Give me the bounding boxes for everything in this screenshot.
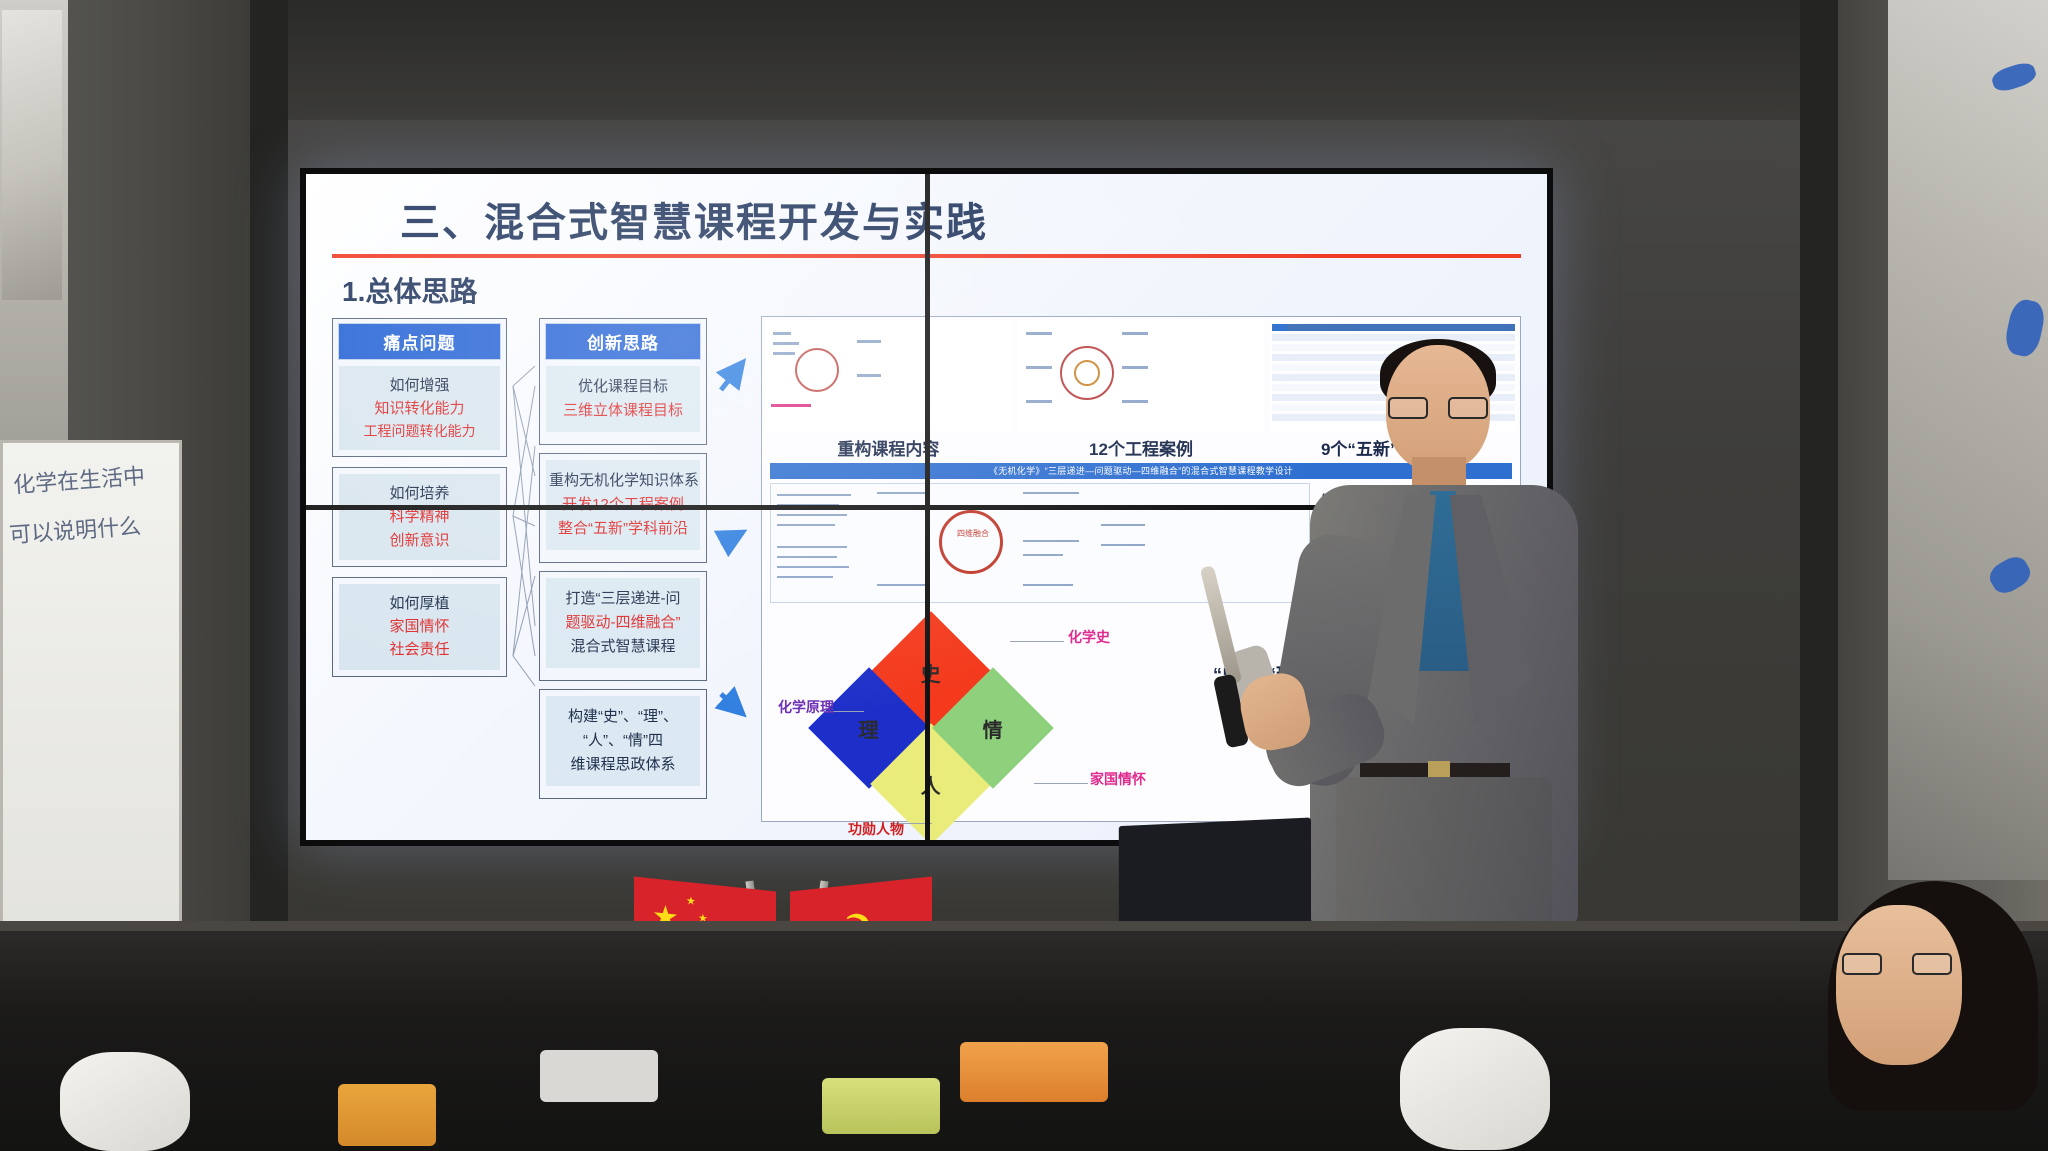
pain-3-line-2: 社会责任 — [343, 638, 496, 661]
pain-cell-2: 如何培养 科学精神 创新意识 — [339, 474, 500, 560]
arrow-column — [721, 316, 747, 822]
attendee-face — [1836, 905, 1962, 1065]
pain-1-line-2: 工程问题转化能力 — [343, 421, 496, 443]
blue-arrows — [721, 322, 747, 792]
innovation-column: 创新思路 优化课程目标 三维立体课程目标 重构无机化学知识体系 开发12个工程案… — [539, 316, 707, 822]
connector-lines — [511, 326, 537, 796]
innovation-panel-1: 创新思路 优化课程目标 三维立体课程目标 — [539, 318, 707, 445]
innovation-cell-1: 优化课程目标 三维立体课程目标 — [546, 366, 700, 432]
pain-2-line-2: 创新意识 — [343, 529, 496, 552]
caption-rebuild-content: 重构课程内容 — [762, 435, 1015, 459]
innovation-header: 创新思路 — [545, 323, 701, 360]
inno-3-line-1: 打造“三层递进-问 — [549, 587, 697, 611]
wall-picture — [2, 10, 62, 300]
pain-panel-1: 痛点问题 如何增强 知识转化能力 工程问题转化能力 — [332, 318, 507, 457]
teaching-design-diagram: 四维融合 — [770, 483, 1310, 603]
attendee-glasses-icon — [1842, 953, 1952, 977]
innovation-panel-3: 打造“三层递进-问 题驱动-四维融合” 混合式智慧课程 — [539, 571, 707, 681]
whiteboard-line-1: 化学在生活中 — [12, 458, 146, 499]
puzzle-label-chemistry-history: 化学史 — [1068, 627, 1110, 647]
camera — [540, 1050, 658, 1102]
plastic-bag-right — [1400, 1028, 1550, 1150]
foreground-desk — [0, 921, 2048, 1151]
inno-4-line-3: 维课程思政体系 — [549, 753, 697, 777]
food-box-3 — [960, 1042, 1108, 1102]
inno-1-line-1: 优化课程目标 — [549, 375, 697, 399]
puzzle-label-patriotism: 家国情怀 — [1090, 769, 1146, 789]
pain-1-line-1: 知识转化能力 — [343, 397, 496, 420]
ceiling — [250, 0, 1838, 120]
connector-area — [521, 316, 525, 822]
pain-points-column: 痛点问题 如何增强 知识转化能力 工程问题转化能力 如何培养 科学精神 创新意识 — [332, 316, 507, 822]
pain-1-lead: 如何增强 — [343, 374, 496, 397]
pain-panel-3: 如何厚植 家国情怀 社会责任 — [332, 577, 507, 677]
pain-cell-3: 如何厚植 家国情怀 社会责任 — [339, 584, 500, 670]
pain-panel-2: 如何培养 科学精神 创新意识 — [332, 467, 507, 567]
inno-2-line-1: 重构无机化学知识体系 — [549, 469, 697, 493]
inno-3-line-2: 题驱动-四维融合” — [549, 611, 697, 635]
pain-2-lead: 如何培养 — [343, 482, 496, 505]
innovation-cell-4: 构建“史”、“理”、 “人”、“情”四 维课程思政体系 — [546, 696, 700, 786]
inno-3-line-3: 混合式智慧课程 — [549, 635, 697, 659]
food-box-2 — [822, 1078, 940, 1134]
four-dimension-puzzle: 史 理 人 情 化学史 化学原理 功勋人物 家国情怀 — [818, 623, 1018, 793]
mini-diagram-network — [765, 320, 1012, 432]
pain-3-lead: 如何厚植 — [343, 592, 496, 615]
pain-3-line-1: 家国情怀 — [343, 615, 496, 638]
pain-cell-1: 如何增强 知识转化能力 工程问题转化能力 — [339, 366, 500, 450]
inno-1-line-2: 三维立体课程目标 — [549, 399, 697, 423]
seated-attendee — [1748, 851, 2048, 1151]
innovation-cell-3: 打造“三层递进-问 题驱动-四维融合” 混合式智慧课程 — [546, 578, 700, 668]
whiteboard: 化学在生活中 可以说明什么 — [0, 440, 182, 1000]
caption-12-cases: 12个工程案例 — [1015, 435, 1268, 459]
innovation-panel-4: 构建“史”、“理”、 “人”、“情”四 维课程思政体系 — [539, 689, 707, 799]
desk-edge — [0, 921, 2048, 931]
inno-2-line-3: 整合“五新”学科前沿 — [549, 517, 697, 541]
inno-4-line-1: 构建“史”、“理”、 — [549, 705, 697, 729]
puzzle-label-merit-figures: 功勋人物 — [848, 819, 904, 839]
whiteboard-line-2: 可以说明什么 — [8, 508, 142, 549]
mini-diagram-circle — [1018, 320, 1265, 432]
glasses-icon — [1388, 397, 1488, 419]
pain-points-header: 痛点问题 — [338, 323, 501, 360]
food-box-1 — [338, 1084, 436, 1146]
puzzle-label-chemistry-principle: 化学原理 — [778, 697, 834, 717]
inno-4-line-2: “人”、“情”四 — [549, 729, 697, 753]
right-window — [1888, 0, 2048, 880]
plastic-bag-left — [60, 1052, 190, 1151]
